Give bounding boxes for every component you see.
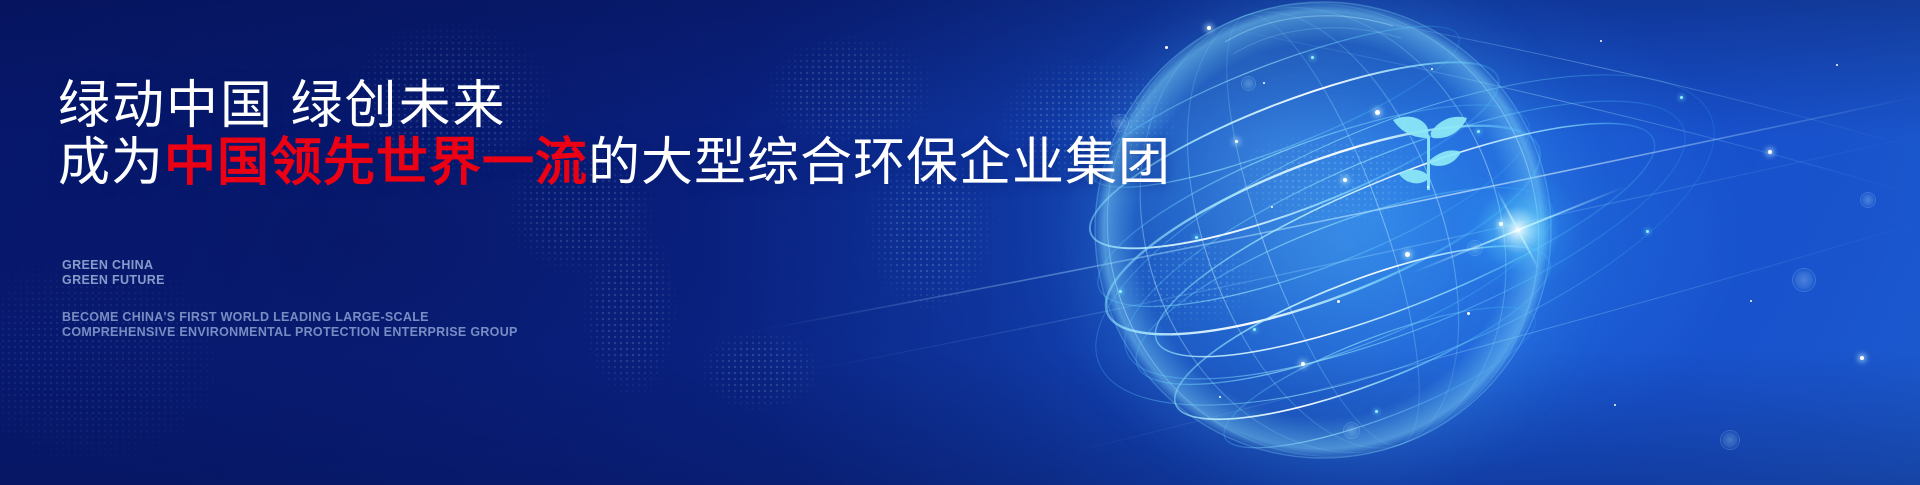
description-english-line1: BECOME CHINA'S FIRST WORLD LEADING LARGE…	[62, 310, 518, 325]
banner-copy: 绿动中国 绿创未来 成为中国领先世界一流的大型综合环保企业集团 GREEN CH…	[58, 0, 1058, 485]
headline-secondary-suffix: 的大型综合环保企业集团	[588, 134, 1171, 192]
wireframe-globe-icon	[1075, 0, 1595, 485]
slogan-english-line2: GREEN FUTURE	[62, 273, 165, 288]
description-english: BECOME CHINA'S FIRST WORLD LEADING LARGE…	[62, 310, 518, 341]
headline-primary: 绿动中国 绿创未来	[58, 78, 506, 135]
headline-secondary-highlight: 中国领先世界一流	[164, 134, 588, 192]
hero-banner: 绿动中国 绿创未来 成为中国领先世界一流的大型综合环保企业集团 GREEN CH…	[0, 0, 1920, 485]
description-english-line2: COMPREHENSIVE ENVIRONMENTAL PROTECTION E…	[62, 325, 518, 340]
particle-sparkles-right	[1560, 0, 1920, 485]
slogan-english: GREEN CHINA GREEN FUTURE	[62, 258, 165, 289]
particle-sparkles	[1075, 0, 1595, 485]
slogan-english-line1: GREEN CHINA	[62, 258, 165, 273]
headline-secondary: 成为中国领先世界一流的大型综合环保企业集团	[58, 135, 1171, 192]
headline-secondary-prefix: 成为	[58, 134, 164, 192]
